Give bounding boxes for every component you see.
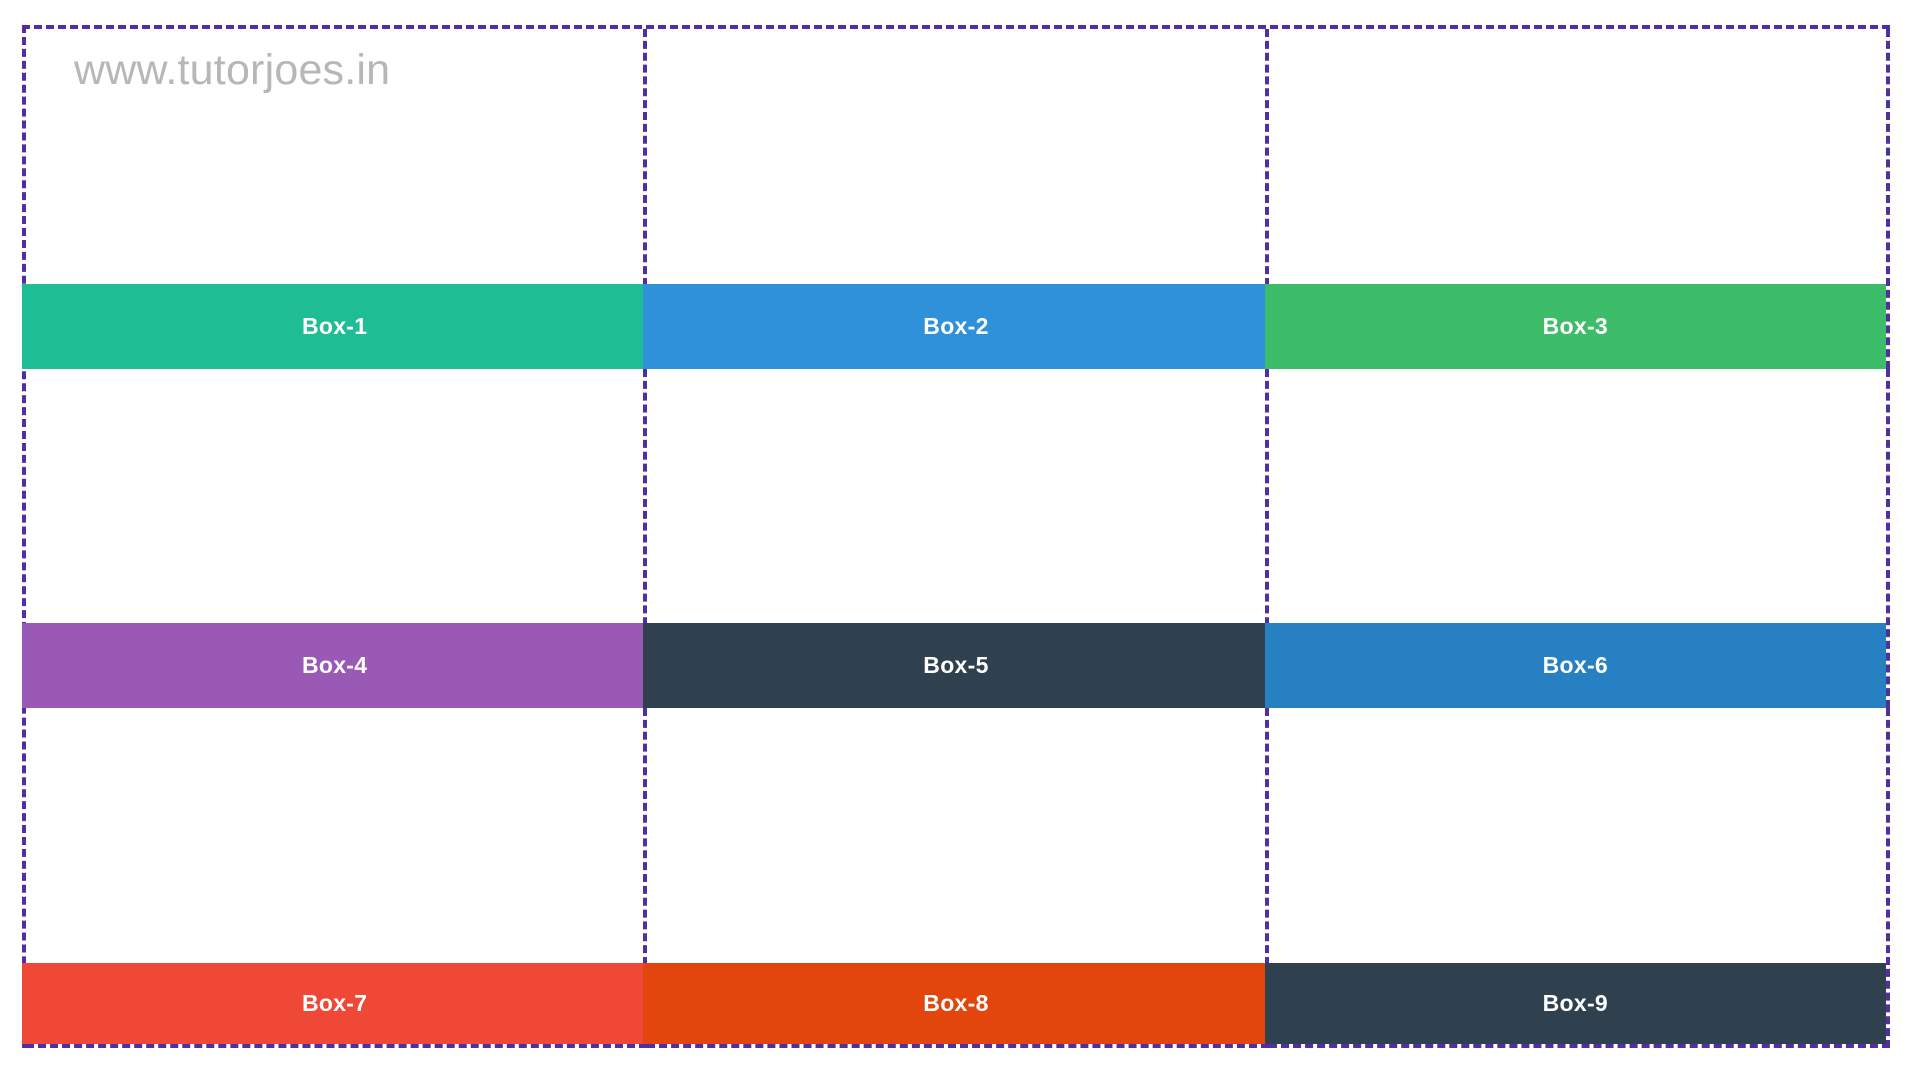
grid-item-label: Box-1 [302,313,367,340]
grid-item-box-1[interactable]: Box-1 [22,284,647,369]
grid-item-box-4[interactable]: Box-4 [22,623,647,708]
grid-item-label: Box-4 [302,652,367,679]
grid-item-box-7[interactable]: Box-7 [22,963,647,1044]
grid-cell: Box-3 [1269,29,1890,369]
grid-item-box-6[interactable]: Box-6 [1265,623,1886,708]
grid-item-label: Box-5 [923,652,988,679]
grid-cell: Box-8 [647,708,1268,1048]
grid-cell: Box-6 [1269,369,1890,709]
grid-item-box-5[interactable]: Box-5 [643,623,1268,708]
grid-item-label: Box-8 [923,990,988,1017]
grid-item-label: Box-9 [1543,990,1608,1017]
grid-cell: Box-5 [647,369,1268,709]
grid-cell: Box-7 [26,708,647,1048]
grid-cell: Box-2 [647,29,1268,369]
grid-item-box-3[interactable]: Box-3 [1265,284,1886,369]
grid-item-box-9[interactable]: Box-9 [1265,963,1886,1044]
grid-item-box-8[interactable]: Box-8 [643,963,1268,1044]
grid-item-label: Box-6 [1543,652,1608,679]
grid-item-label: Box-2 [923,313,988,340]
grid-container: Box-1 Box-2 Box-3 Box-4 Box-5 Box-6 Box-… [22,25,1890,1048]
grid-cell: Box-4 [26,369,647,709]
grid-cell: Box-9 [1269,708,1890,1048]
grid-item-label: Box-7 [302,990,367,1017]
grid-item-box-2[interactable]: Box-2 [643,284,1268,369]
grid-cell: Box-1 [26,29,647,369]
grid-item-label: Box-3 [1543,313,1608,340]
